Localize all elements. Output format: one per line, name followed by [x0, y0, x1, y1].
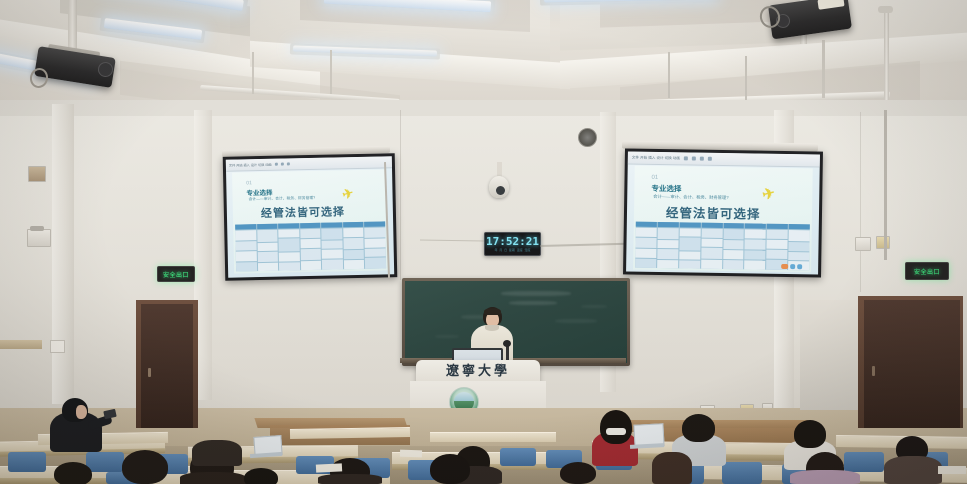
- table-col: [744, 223, 766, 269]
- table-col: [723, 223, 745, 269]
- clock-sublabel: 年 月 日 星期 温度 湿度: [494, 248, 530, 252]
- student-hair: [682, 414, 715, 442]
- wall-recess-right: [800, 300, 858, 410]
- chalk-mark: [555, 319, 597, 323]
- slide-bird-icon: ✈: [760, 183, 777, 204]
- door-left[interactable]: [141, 304, 193, 428]
- student-body: [318, 474, 382, 484]
- presenter-hair-front: [484, 308, 501, 315]
- chalk-mark: [581, 305, 607, 308]
- app-toolbar-dot: [684, 156, 688, 160]
- projector-left-pole: [68, 0, 77, 52]
- wall-vent-left: [28, 166, 46, 182]
- rail-wire-1: [668, 52, 670, 98]
- student-hair: [430, 454, 470, 484]
- exit-sign-left-label: 安全出口: [163, 270, 189, 279]
- app-toolbar-dot: [708, 157, 712, 161]
- table-col: [635, 222, 657, 268]
- table-col: [701, 223, 723, 269]
- app-menu-label-right: 文件 开始 插入 设计 切换 动画: [632, 155, 680, 161]
- chalk-mark: [501, 291, 571, 296]
- wall-trim-left: [0, 340, 42, 349]
- presenter-collar: [485, 325, 499, 331]
- student-face: [76, 405, 87, 419]
- notebook[interactable]: [316, 463, 342, 472]
- table-col: [257, 224, 279, 271]
- wall-outlet-left-b[interactable]: [876, 236, 890, 249]
- podium-name-plate: 遼寧大學: [430, 363, 526, 379]
- slide-title: 经管法皆可选择: [261, 203, 345, 221]
- student-hair: [794, 420, 826, 448]
- app-toolbar-dot: [692, 157, 696, 161]
- podium-mic-head: [503, 340, 511, 347]
- digital-clock: 17:52:21 年 月 日 星期 温度 湿度: [484, 232, 541, 256]
- wall-column-left: [52, 104, 74, 404]
- slide-subtitle: 会计——审计、会计、税务、财务管理?: [249, 196, 316, 202]
- app-toolbar-dot: [281, 163, 284, 166]
- student-hair: [560, 462, 596, 484]
- slide-kicker: 01: [246, 180, 252, 186]
- student-hair: [244, 468, 278, 484]
- light-switch-panel-left[interactable]: [50, 340, 65, 353]
- table-col: [300, 223, 322, 270]
- clock-time: 17:52:21: [486, 236, 539, 247]
- door-right[interactable]: [864, 300, 960, 428]
- table-col: [278, 223, 300, 270]
- table-col: [321, 222, 343, 269]
- slide-status-chip: [797, 264, 802, 269]
- table-col: [657, 222, 679, 268]
- wall-shadow-top: [0, 100, 967, 116]
- screen-right-cord[interactable]: [884, 110, 887, 260]
- student-body: [884, 456, 942, 484]
- student-body: [652, 452, 692, 484]
- slide-table-left: [235, 221, 386, 271]
- slide-title: 经管法皆可选择: [666, 202, 761, 222]
- screen-right-frame[interactable]: 文件 开始 插入 设计 切换 动画 01 专业选择 会计——审计、会计、税务、财…: [623, 148, 823, 277]
- rail-wire-5: [330, 50, 332, 94]
- app-toolbar-dot: [700, 157, 704, 161]
- wall-seam-2: [860, 112, 861, 292]
- chalkboard-frame: [402, 278, 630, 366]
- student-hair: [122, 450, 168, 484]
- table-col: [235, 224, 257, 271]
- screen-left-frame[interactable]: 文件 开始 插入 设计 切换 动画 01 专业选择 会计——审计、会计、税务、财…: [223, 153, 398, 281]
- app-toolbar-dot: [287, 162, 290, 165]
- camera-lens-icon: [496, 186, 505, 195]
- table-col: [365, 221, 387, 268]
- ceiling-speaker: [578, 128, 597, 147]
- chair[interactable]: [86, 452, 124, 472]
- ceiling-drop-pole: [884, 10, 889, 102]
- slide-canvas-right: 01 专业选择 会计——审计、会计、税务、财务管理? ✈ 经管法皆可选择: [633, 166, 813, 273]
- ceiling-drop-pole-cap: [878, 6, 893, 13]
- student-body: [180, 472, 246, 484]
- chalkboard: [405, 281, 627, 363]
- wall-speaker-bracket-left: [30, 226, 44, 231]
- student-body: [192, 440, 242, 466]
- chalk-mark: [509, 301, 557, 305]
- wall-speaker-box-left[interactable]: [27, 229, 51, 247]
- student-hair: [600, 410, 632, 444]
- wall-seam-1: [400, 110, 401, 280]
- app-toolbar-dot: [275, 163, 278, 166]
- slide-heading: 专业选择: [651, 183, 681, 194]
- lecture-hall-photo: 安全出口 安全出口 17:52:21 年 月 日 星期 温度 湿度 文件 开始 …: [0, 0, 967, 484]
- chalk-mark: [435, 335, 459, 338]
- slide-bird-icon: ✈: [341, 185, 356, 203]
- rail-wire-3: [822, 40, 825, 98]
- student-body: [790, 470, 860, 484]
- notebook[interactable]: [400, 450, 422, 458]
- slide-status-chip: [781, 264, 788, 269]
- chair[interactable]: [8, 452, 46, 472]
- desk-row: [290, 427, 410, 439]
- chair[interactable]: [844, 452, 884, 472]
- slide-kicker: 01: [651, 175, 658, 181]
- wall-outlet-left-a[interactable]: [855, 237, 871, 251]
- desk-row: [430, 432, 556, 442]
- chair[interactable]: [500, 448, 536, 466]
- exit-sign-left: 安全出口: [157, 266, 195, 282]
- chair[interactable]: [722, 462, 762, 484]
- slide-subtitle: 会计——审计、会计、税务、财务管理?: [653, 194, 729, 201]
- door-right-handle-icon: [872, 366, 875, 376]
- notebook[interactable]: [938, 466, 966, 474]
- table-col: [679, 222, 701, 268]
- screen-left-display: 文件 开始 插入 设计 切换 动画 01 专业选择 会计——审计、会计、税务、财…: [226, 156, 394, 277]
- exit-sign-right-label: 安全出口: [914, 267, 940, 276]
- slide-heading: 专业选择: [246, 187, 272, 198]
- door-left-handle-icon: [148, 368, 151, 377]
- screen-right-display: 文件 开始 插入 设计 切换 动画 01 专业选择 会计——审计、会计、税务、财…: [626, 151, 820, 274]
- app-menu-label-left: 文件 开始 插入 设计 切换 动画: [229, 162, 272, 168]
- slide-canvas-left: 01 专业选择 会计——审计、会计、税务、财务管理? ✈ 经管法皆可选择: [232, 169, 388, 273]
- slide-status-chip: [790, 264, 795, 269]
- student-hair: [54, 462, 92, 484]
- rail-wire-2: [745, 56, 747, 100]
- table-col: [343, 222, 365, 269]
- rail-wire-4: [252, 52, 254, 94]
- exit-sign-right: 安全出口: [905, 262, 949, 280]
- student-collar: [606, 428, 626, 435]
